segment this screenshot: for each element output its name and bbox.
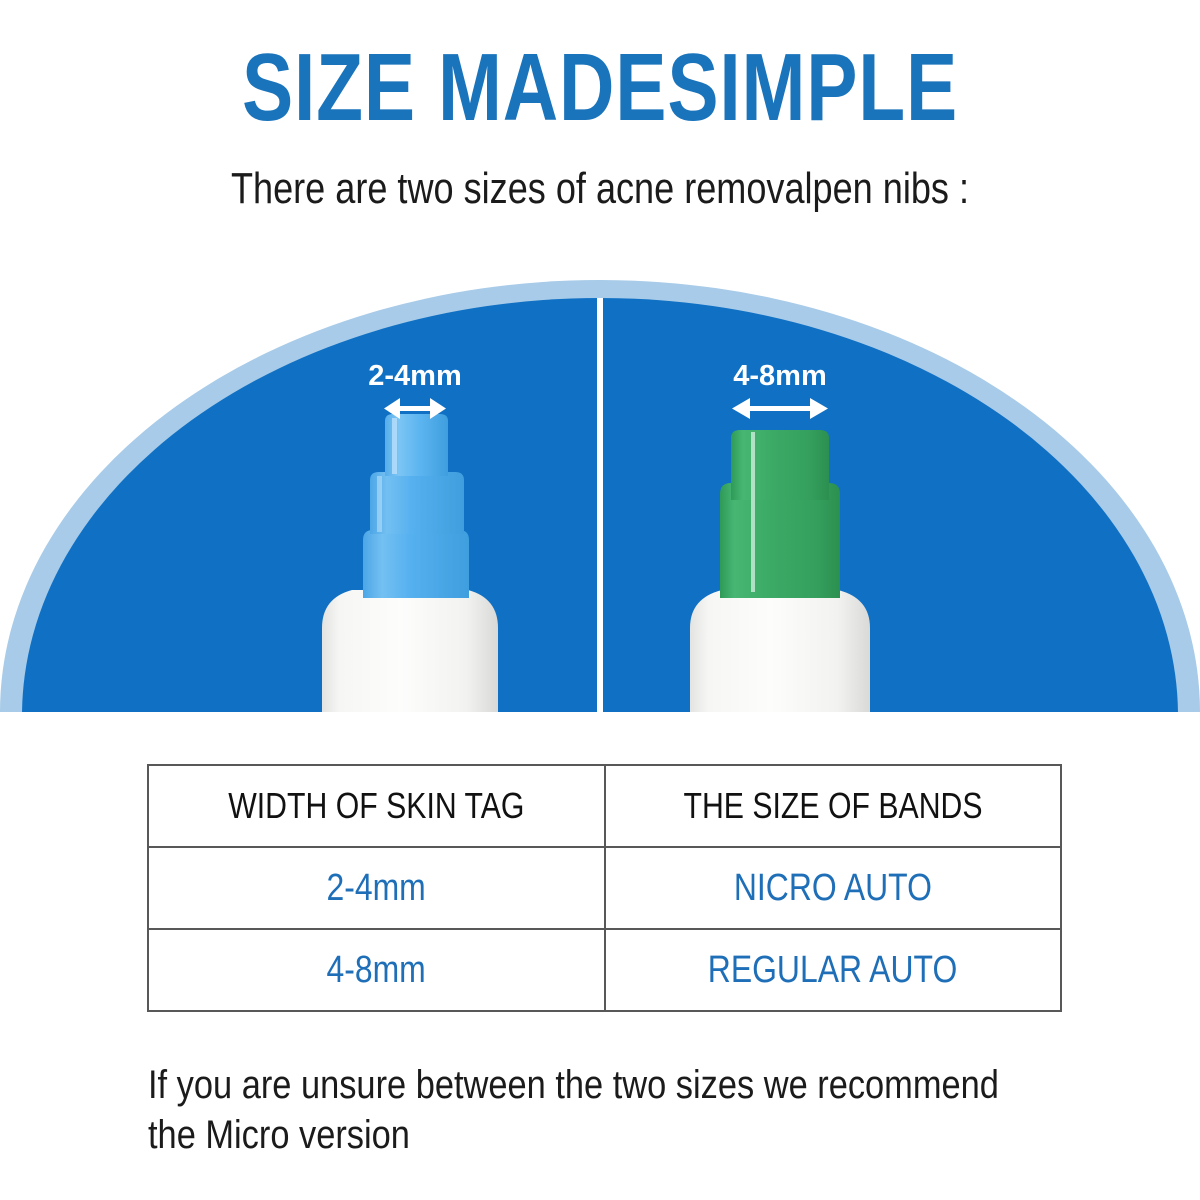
left-size-label: 2-4mm <box>368 360 462 392</box>
table-cell-band-2: REGULAR AUTO <box>605 929 1061 1011</box>
panel-divider <box>597 298 603 712</box>
left-nib-tier-3 <box>363 530 469 598</box>
table-cell-width-1: 2-4mm <box>148 847 605 929</box>
footer-line-2: the Micro version <box>148 1110 956 1160</box>
table-cell-band-1: NICRO AUTO <box>605 847 1061 929</box>
nib-size-illustration: 2-4mm 4-8mm <box>0 268 1200 720</box>
right-nib-tier-1 <box>731 430 829 500</box>
table-header-cell-width: WIDTH OF SKIN TAG <box>148 765 605 847</box>
header-label-width: WIDTH OF SKIN TAG <box>228 785 524 827</box>
cell-value-width-2: 4-8mm <box>327 949 426 992</box>
table-row: 2-4mm NICRO AUTO <box>148 847 1061 929</box>
table-header-row: WIDTH OF SKIN TAG THE SIZE OF BANDS <box>148 765 1061 847</box>
right-size-label: 4-8mm <box>733 360 827 392</box>
infographic-page: SIZE MADESIMPLE There are two sizes of a… <box>0 0 1200 1200</box>
header-label-bands: THE SIZE OF BANDS <box>683 785 982 827</box>
cell-value-band-2: REGULAR AUTO <box>708 949 958 992</box>
right-pen-body <box>690 590 870 712</box>
left-pen-body <box>322 590 498 712</box>
left-nib-tier-2 <box>370 472 464 534</box>
cell-value-width-1: 2-4mm <box>327 867 426 910</box>
page-subtitle: There are two sizes of acne removalpen n… <box>108 163 1092 215</box>
table-cell-width-2: 4-8mm <box>148 929 605 1011</box>
footer-note: If you are unsure between the two sizes … <box>148 1060 1088 1160</box>
right-nib-tier-2 <box>720 483 840 598</box>
cell-value-band-1: NICRO AUTO <box>734 867 932 910</box>
table-row: 4-8mm REGULAR AUTO <box>148 929 1061 1011</box>
page-title: SIZE MADESIMPLE <box>120 36 1080 140</box>
table-header-cell-bands: THE SIZE OF BANDS <box>605 765 1061 847</box>
size-comparison-table: WIDTH OF SKIN TAG THE SIZE OF BANDS 2-4m… <box>147 764 1062 1012</box>
footer-line-1: If you are unsure between the two sizes … <box>148 1060 956 1110</box>
